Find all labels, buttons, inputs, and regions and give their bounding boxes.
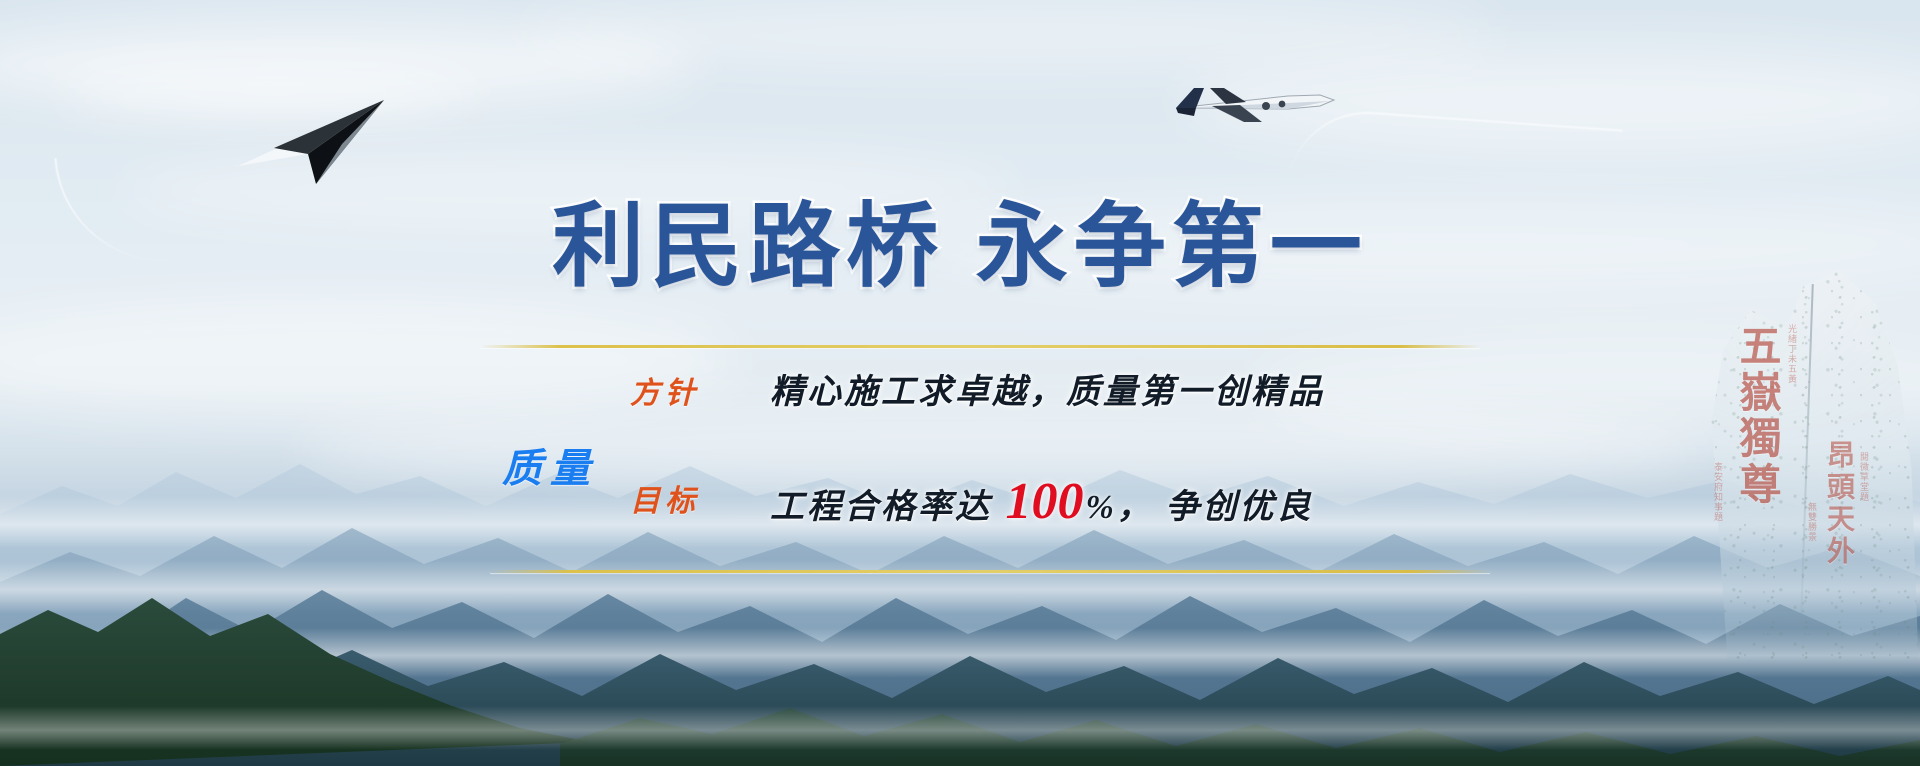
slogan-text-goal: 工程合格率达 100%， 争创优良: [770, 472, 1313, 531]
stone-stele: 五嶽獨尊 昂頭天外 光緒丁未五黃 泰安府知事題 閱微草堂題 無雙勝景: [1700, 262, 1920, 662]
banner-headline: 利民路桥 永争第一: [0, 172, 1920, 305]
divider-rule-top: [480, 345, 1480, 348]
stele-small-inscription-4: 無雙勝景: [1806, 502, 1819, 542]
slogan-row-goal: 目标 工程合格率达 100%， 争创优良: [480, 476, 1490, 540]
stele-small-inscription-1: 光緒丁未五黃: [1786, 324, 1799, 384]
stele-main-inscription: 五嶽獨尊: [1726, 324, 1787, 508]
stele-small-inscription-2: 泰安府知事題: [1712, 462, 1725, 522]
slogan-goal-percent: %，: [1086, 489, 1154, 526]
slogan-goal-number: 100: [1004, 473, 1086, 530]
slogan-goal-suffix: 争创优良: [1165, 489, 1313, 526]
cloud-haze: [520, 0, 1500, 70]
slogan-tag-goal: 目标: [630, 476, 700, 520]
divider-rule-bottom: [490, 570, 1490, 573]
slogan-row-policy: 方针 精心施工求卓越，质量第一创精品: [480, 368, 1490, 432]
slogan-goal-prefix: 工程合格率达: [770, 489, 992, 526]
hero-banner: 五嶽獨尊 昂頭天外 光緒丁未五黃 泰安府知事題 閱微草堂題 無雙勝景 利民路桥 …: [0, 0, 1920, 766]
stele-small-inscription-3: 閱微草堂題: [1858, 452, 1871, 502]
stele-secondary-inscription: 昂頭天外: [1818, 440, 1858, 568]
slogan-block: 质量 方针 精心施工求卓越，质量第一创精品 目标 工程合格率达 100%， 争创…: [480, 360, 1490, 565]
airplane-icon: [1170, 82, 1340, 138]
slogan-tag-policy: 方针: [630, 368, 700, 412]
slogan-text-policy: 精心施工求卓越，质量第一创精品: [770, 364, 1325, 413]
